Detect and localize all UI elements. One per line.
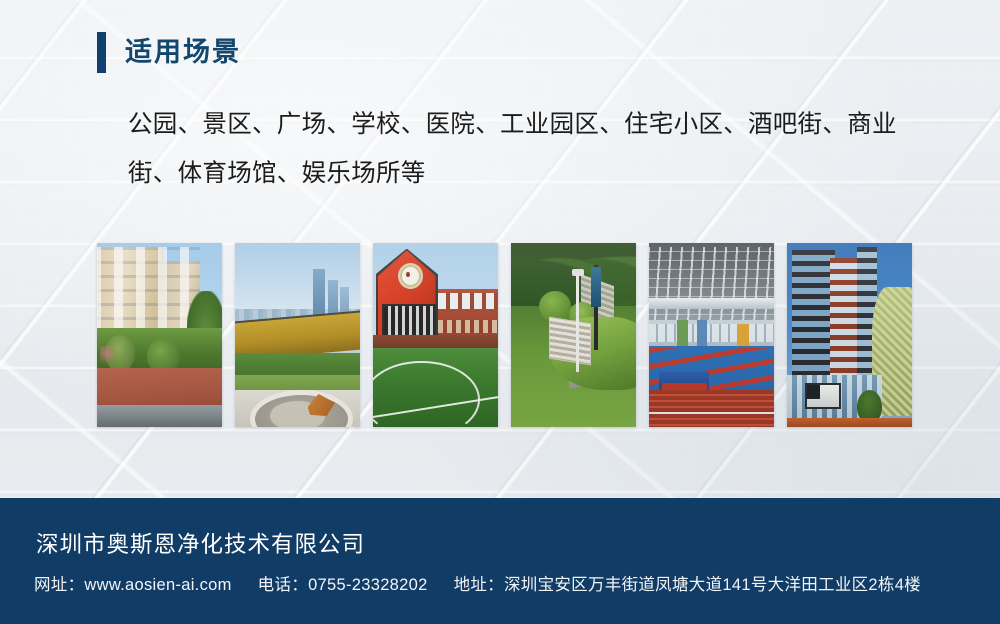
scenario-description: 公园、景区、广场、学校、医院、工业园区、住宅小区、酒吧街、商业街、体育场馆、娱乐… [128, 100, 928, 198]
lamp-head [572, 269, 583, 276]
green-panel [677, 320, 688, 346]
section-heading: 适用场景 [97, 32, 241, 73]
red-walking-path [97, 368, 222, 408]
street-pavement [787, 418, 912, 427]
website-value[interactable]: www.aosien-ai.com [84, 576, 231, 595]
running-track [649, 390, 774, 427]
lamp-post [576, 272, 579, 371]
photo-park-plaza [235, 243, 360, 427]
yellow-panel [737, 324, 750, 346]
road-curb [97, 405, 222, 427]
heading-accent-bar [97, 32, 106, 73]
website-label: 网址： [34, 571, 84, 595]
garden-steps [549, 317, 591, 366]
photo-indoor-stadium [649, 243, 774, 427]
blue-panel [697, 320, 707, 346]
phone-label: 电话： [258, 571, 308, 595]
flower-bed [100, 346, 120, 364]
wall-panels [649, 324, 774, 342]
wing-windows-lower [438, 320, 498, 333]
track-rail [649, 412, 774, 414]
footer-bar: 深圳市奥斯恩净化技术有限公司 网址： www.aosien-ai.com 电话：… [0, 498, 1000, 624]
clock-center [406, 272, 410, 277]
phone-value[interactable]: 0755-23328202 [308, 576, 428, 595]
steel-truss [649, 247, 774, 324]
glass-curtain-wall [382, 304, 436, 337]
address-label: 地址： [454, 571, 504, 595]
page-title: 适用场景 [125, 39, 241, 66]
address-value: 深圳宝安区万丰街道凤塘大道141号大洋田工业区2栋4楼 [504, 571, 921, 595]
photo-commercial-building [787, 243, 912, 427]
slide-canvas: 适用场景 公园、景区、广场、学校、医院、工业园区、住宅小区、酒吧街、商业街、体育… [0, 0, 1000, 624]
contact-line: 网址： www.aosien-ai.com 电话： 0755-23328202 … [34, 571, 921, 595]
main-beam [649, 298, 774, 309]
photo-residential-community [97, 243, 222, 427]
company-name: 深圳市奥斯恩净化技术有限公司 [36, 527, 365, 559]
bush-center [147, 339, 180, 372]
photo-gallery [97, 243, 912, 427]
wing-windows-upper [438, 293, 498, 310]
display-panel-dark [807, 385, 820, 400]
photo-school-campus [373, 243, 498, 427]
blue-signboard [591, 267, 601, 307]
photo-landscaped-garden [511, 243, 636, 427]
